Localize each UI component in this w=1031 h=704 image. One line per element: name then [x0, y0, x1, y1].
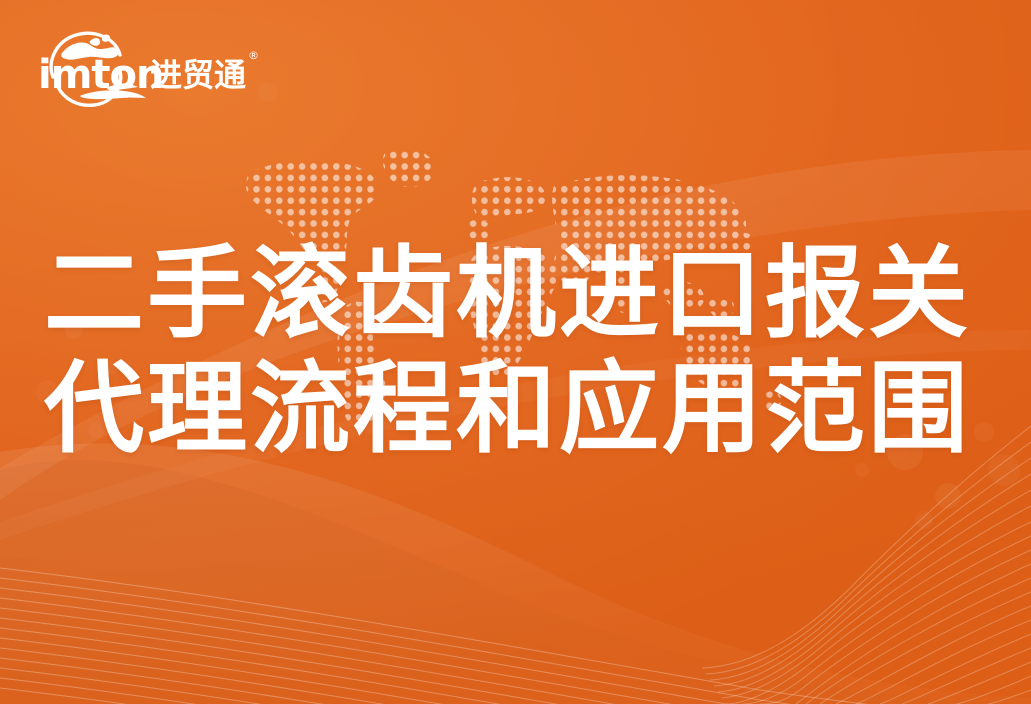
headline-line-1: 二手滚齿机进口报关	[44, 236, 988, 351]
registered-trademark-icon: ®	[248, 49, 259, 62]
headline: 二手滚齿机进口报关 代理流程和应用范围	[44, 236, 988, 466]
brand-logo-svg: imton 进贸通 ®	[38, 25, 308, 109]
brand-logo[interactable]: imton 进贸通 ®	[38, 25, 308, 109]
promo-banner: imton 进贸通 ® 二手滚齿机进口报关 代理流程和应用范围	[0, 0, 1031, 704]
logo-latin-name: imton	[38, 52, 163, 98]
headline-line-2: 代理流程和应用范围	[44, 351, 988, 466]
logo-chinese-name: 进贸通	[150, 56, 246, 94]
